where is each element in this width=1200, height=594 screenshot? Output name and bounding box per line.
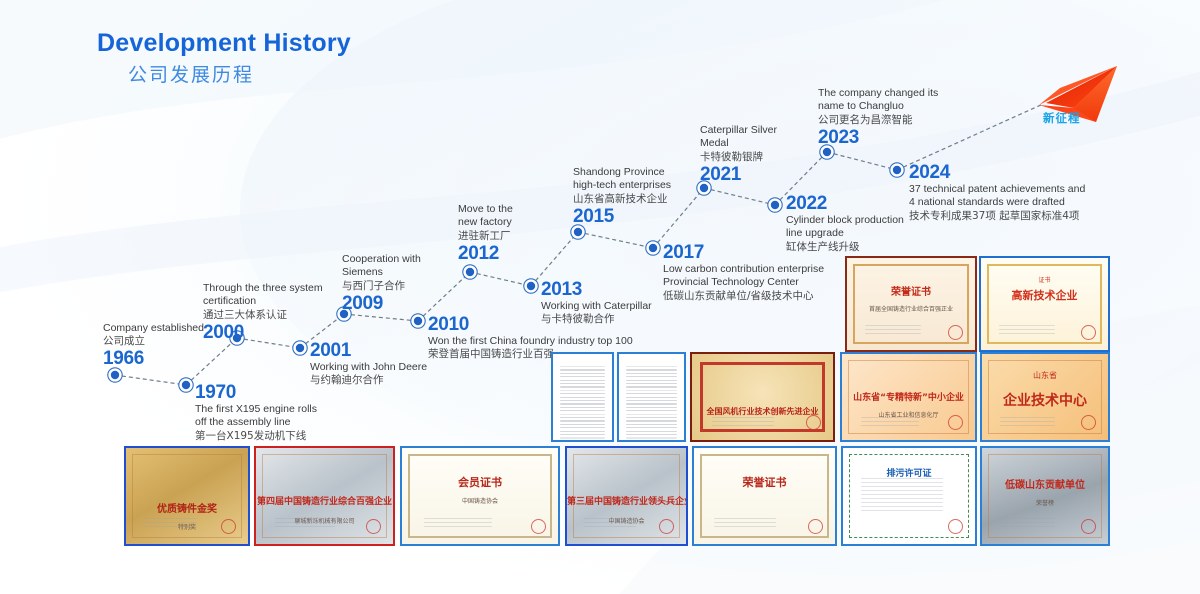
event-desc-cn: 公司更名为昌漈智能 [818,114,938,128]
red-seal-icon [808,519,823,534]
cert-honor-award[interactable]: 荣誉证书 [692,446,837,546]
document-text-line [560,383,605,384]
cert-metal-china-gold[interactable]: 优质铸件金奖特别奖 [124,446,250,546]
event-desc-cn: 技术专利成果37项 起草国家标准4项 [909,210,1085,224]
event-desc-en: Company established [103,322,204,335]
timeline-node[interactable] [179,378,193,392]
document-text-line [560,417,605,418]
event-desc-en: new factory [458,216,513,229]
event-year: 2022 [786,194,904,214]
timeline-segment [578,232,653,248]
event-desc-en: certification [203,295,323,308]
document-text-line [626,403,677,404]
certificate-image: 优质铸件金奖特别奖 [126,448,248,544]
event-year: 2009 [342,294,421,314]
event-year: 2012 [458,244,513,264]
event-desc-en: Provincial Technology Center [663,276,824,289]
event-desc-en: Cooperation with [342,253,421,266]
cert-document-page-2[interactable] [617,352,686,442]
event-desc-en: Medal [700,137,777,150]
cert-honor-certificate[interactable]: 荣誉证书首届全国铸造行业综合百强正业 [845,256,977,352]
timeline-node[interactable] [463,265,477,279]
red-seal-icon [221,519,236,534]
document-text-line [560,366,605,367]
cert-innovation-plaque[interactable]: 全国风机行业技术创新先进企业 [690,352,835,442]
document-text-line [560,420,605,421]
red-seal-icon [1081,519,1096,534]
document-text-line [626,400,677,401]
timeline-event-2013[interactable]: 2013Working with Caterpillar与卡特彼勒合作 [541,280,652,327]
event-desc-cn: 与卡特彼勒合作 [541,313,652,327]
document-text-line [560,434,605,435]
red-seal-icon [806,415,821,430]
certificate-title: 会员证书 [402,474,558,490]
certificate-subtitle: 证书 [981,275,1108,284]
event-desc-en: 37 technical patent achievements and [909,183,1085,196]
event-year: 2015 [573,207,671,227]
cert-foundry-leader[interactable]: 第三届中国铸造行业领头兵企业中国铸造协会 [565,446,688,546]
timeline-node[interactable] [108,368,122,382]
event-desc-cn: 第一台X195发动机下线 [195,430,317,444]
document-text-line [626,434,677,435]
event-desc-en: Cylinder block production [786,214,904,227]
document-text-line [626,424,677,425]
document-text-line [626,420,677,421]
event-year: 2021 [700,165,777,185]
timeline-event-2023[interactable]: The company changed itsname to Changluo公… [818,87,938,147]
document-text-line [560,414,605,415]
event-desc-en: Siemens [342,266,421,279]
timeline-segment [531,232,578,286]
document-text-line [560,373,605,374]
event-desc-en: Low carbon contribution enterprise [663,263,824,276]
slide-canvas: Development History 公司发展历程 Company estab… [0,0,1200,594]
certificate-title: 第四届中国铸造行业综合百强企业 [256,494,393,507]
document-text-line [560,386,605,387]
event-year: 2023 [818,128,938,148]
document-text-line [560,397,605,398]
document-text-line [560,403,605,404]
event-desc-cn: 山东省高新技术企业 [573,193,671,207]
timeline-event-2001[interactable]: 2001Working with John Deere与约翰迪尔合作 [310,341,427,388]
certificate-image: 全国风机行业技术创新先进企业 [692,354,833,440]
certificate-image: 第四届中国铸造行业综合百强企业聊城新泺机械有限公司 [256,448,393,544]
timeline-node[interactable] [293,341,307,355]
certificate-subtitle: 首届全国铸造行业综合百强正业 [847,304,975,313]
event-desc-cn: 公司成立 [103,335,204,349]
event-desc-en: line upgrade [786,227,904,240]
certificate-title: 低碳山东贡献单位 [982,476,1108,491]
event-year: 2000 [203,323,323,343]
document-text-line [626,373,677,374]
document-text-line [626,380,677,381]
document-text-line [560,380,605,381]
certificate-title: 优质铸件金奖 [126,500,248,515]
certificate-image: 低碳山东贡献单位荣誉榜 [982,448,1108,544]
timeline-event-2015[interactable]: Shandong Provincehigh-tech enterprises山东… [573,166,671,226]
new-journey-label: 新征程 [1043,110,1081,126]
red-seal-icon [948,415,963,430]
document-text-line [626,366,677,367]
certificate-image [553,354,612,440]
document-text-line [560,400,605,401]
certificate-subtitle: 中国铸造协会 [402,496,558,505]
certificate-title: 山东省“专精特新”中小企业 [842,390,975,403]
timeline-node[interactable] [411,314,425,328]
document-text-line [560,431,605,432]
timeline-segment [115,375,186,385]
certificate-title: 第三届中国铸造行业领头兵企业 [567,494,686,507]
event-desc-en: high-tech enterprises [573,179,671,192]
red-seal-icon [531,519,546,534]
certificate-title: 高新技术企业 [981,287,1108,303]
timeline-event-2009[interactable]: Cooperation withSiemens与西门子合作2009 [342,253,421,313]
timeline-event-2024[interactable]: 202437 technical patent achievements and… [909,163,1085,223]
timeline-node[interactable] [646,241,660,255]
certificate-title: 企业技术中心 [982,390,1108,410]
certificate-image: 荣誉证书 [694,448,835,544]
document-text-line [626,431,677,432]
event-year: 1966 [103,349,204,369]
certificate-image [619,354,684,440]
certificate-subtitle: 山东省 [982,370,1108,381]
cert-pollution-permit[interactable]: 排污许可证 [841,446,977,546]
certificate-title: 荣誉证书 [847,283,975,298]
event-desc-cn: 与约翰迪尔合作 [310,374,427,388]
document-text-line [560,390,605,391]
document-text-line [626,407,677,408]
certificate-image: 第三届中国铸造行业领头兵企业中国铸造协会 [567,448,686,544]
red-seal-icon [1081,325,1096,340]
event-desc-en: The first X195 engine rolls [195,403,317,416]
event-desc-en: Shandong Province [573,166,671,179]
timeline-segment [827,152,897,170]
event-desc-cn: 与西门子合作 [342,280,421,294]
document-text-line [626,417,677,418]
event-desc-en: Caterpillar Silver [700,124,777,137]
cert-foundry-top100[interactable]: 第四届中国铸造行业综合百强企业聊城新泺机械有限公司 [254,446,395,546]
document-text-line [626,437,677,438]
event-desc-en: Working with Caterpillar [541,300,652,313]
document-text-line [626,390,677,391]
cert-high-tech-enterprise[interactable]: 高新技术企业证书 [979,256,1110,352]
timeline-segment [470,272,531,286]
document-text-line [626,386,677,387]
document-text-line [560,424,605,425]
cert-member-certificate[interactable]: 会员证书中国铸造协会 [400,446,560,546]
event-desc-en: Move to the [458,203,513,216]
certificate-title: 荣誉证书 [694,474,835,490]
event-desc-en: Working with John Deere [310,361,427,374]
certificate-image: 山东省“专精特新”中小企业山东省工业和信息化厅 [842,354,975,440]
timeline-segment [704,188,775,205]
document-text-line [626,414,677,415]
certificate-subtitle: 荣誉榜 [982,498,1108,507]
red-seal-icon [659,519,674,534]
event-year: 2013 [541,280,652,300]
event-desc-cn: 通过三大体系认证 [203,309,323,323]
document-text-line [560,369,605,370]
red-seal-icon [948,325,963,340]
red-seal-icon [948,519,963,534]
timeline-node[interactable] [571,225,585,239]
certificate-image: 荣誉证书首届全国铸造行业综合百强正业 [847,258,975,350]
timeline-event-2012[interactable]: Move to thenew factory进驻新工厂2012 [458,203,513,263]
event-desc-en: The company changed its [818,87,938,100]
red-seal-icon [366,519,381,534]
event-desc-cn: 低碳山东贡献单位/省级技术中心 [663,290,824,304]
document-text-line [560,407,605,408]
document-text-line [560,437,605,438]
cert-enterprise-tech-center[interactable]: 企业技术中心山东省 [980,352,1110,442]
event-desc-cn: 进驻新工厂 [458,230,513,244]
event-year: 1970 [195,383,317,403]
timeline-event-1966[interactable]: Company established公司成立1966 [103,322,204,369]
timeline-node[interactable] [890,163,904,177]
certificate-image: 排污许可证 [843,448,975,544]
red-seal-icon [1081,415,1096,430]
event-desc-cn: 卡特彼勒银牌 [700,151,777,165]
document-text-line [626,397,677,398]
event-year: 2001 [310,341,427,361]
cert-shandong-contribution[interactable]: 低碳山东贡献单位荣誉榜 [980,446,1110,546]
event-year: 2024 [909,163,1085,183]
timeline-event-2021[interactable]: Caterpillar SilverMedal卡特彼勒银牌2021 [700,124,777,184]
certificate-image: 高新技术企业证书 [981,258,1108,350]
certificate-image: 企业技术中心山东省 [982,354,1108,440]
timeline-event-2000[interactable]: Through the three systemcertification通过三… [203,282,323,342]
timeline-segment [344,314,418,321]
document-text-line [626,383,677,384]
event-desc-cn: 缸体生产线升级 [786,241,904,255]
event-desc-en: name to Changluo [818,100,938,113]
event-desc-en: 4 national standards were drafted [909,196,1085,209]
document-text-line [626,369,677,370]
timeline-node[interactable] [768,198,782,212]
certificate-image: 会员证书中国铸造协会 [402,448,558,544]
event-desc-en: Won the first China foundry industry top… [428,335,633,348]
timeline-node[interactable] [524,279,538,293]
timeline-event-1970[interactable]: 1970The first X195 engine rollsoff the a… [195,383,317,443]
event-desc-en: off the assembly line [195,416,317,429]
cert-sme-specialized[interactable]: 山东省“专精特新”中小企业山东省工业和信息化厅 [840,352,977,442]
event-desc-en: Through the three system [203,282,323,295]
timeline-event-2022[interactable]: 2022Cylinder block productionline upgrad… [786,194,904,254]
cert-document-page-1[interactable] [551,352,614,442]
